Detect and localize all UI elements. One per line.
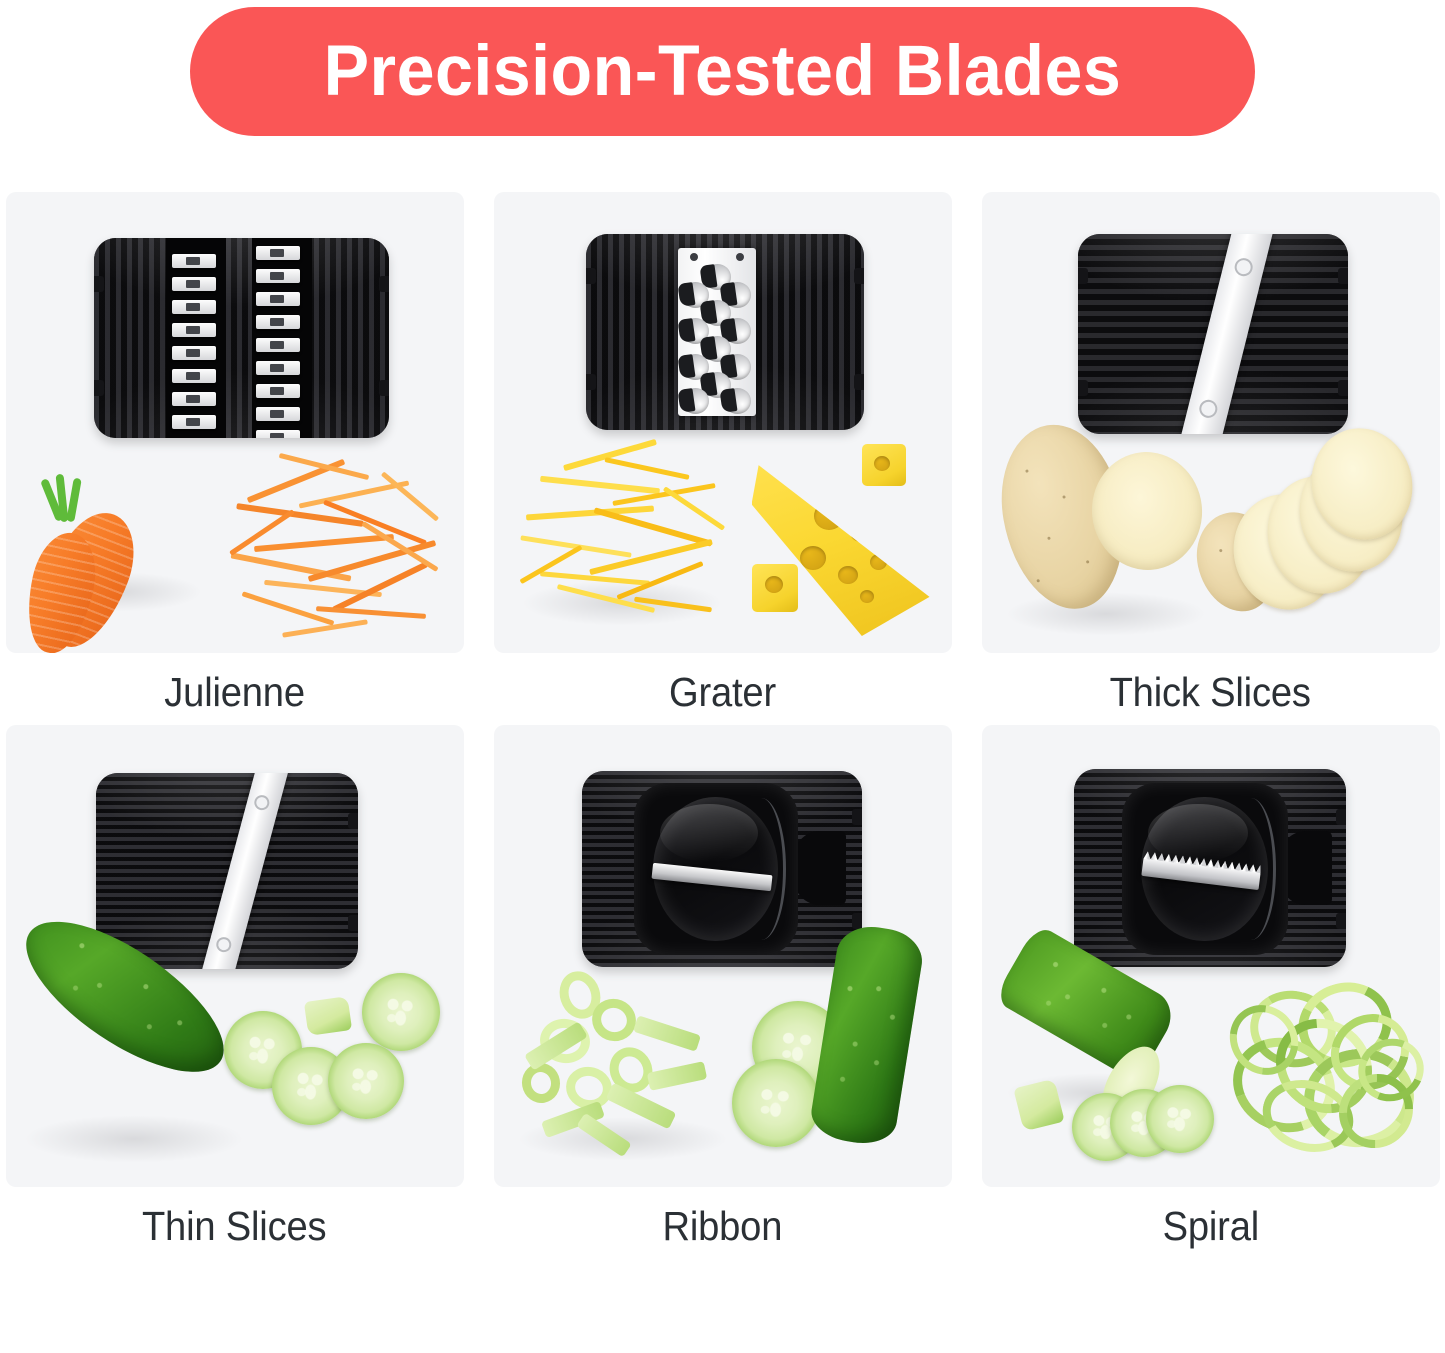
blade-card-ribbon[interactable]: Ribbon	[489, 725, 957, 1250]
julienne-tooth	[172, 277, 216, 291]
plate-rivet	[690, 253, 698, 261]
card-label-thin-slices: Thin Slices	[142, 1203, 326, 1250]
cheese-hole	[860, 590, 874, 603]
cheese-hole	[874, 456, 890, 471]
potato-spot	[1025, 469, 1028, 472]
blade-card-grid: Julienne	[0, 192, 1445, 1250]
cheese-shred	[604, 457, 689, 480]
blade-screw	[1197, 398, 1219, 420]
potato-spot	[1062, 495, 1065, 498]
thin-slice-blade-insert	[96, 773, 358, 969]
potato-spot	[1085, 560, 1088, 563]
blade-clip	[586, 374, 596, 390]
blade-ribbing	[94, 238, 389, 438]
julienne-tooth	[172, 346, 216, 360]
julienne-tooth	[256, 269, 300, 283]
ribbon-strip	[646, 1061, 706, 1091]
julienne-tooth	[256, 384, 300, 398]
zucchini-spiral-nest	[1226, 977, 1426, 1167]
cheese-cube-bottom	[752, 564, 798, 612]
spiral-card-image	[982, 725, 1440, 1187]
ribbon-card-image	[494, 725, 952, 1187]
julienne-tooth-column-left	[172, 254, 216, 429]
blade-clip	[586, 268, 596, 284]
cheese-hole	[800, 546, 826, 570]
spiral-blade-insert	[1074, 769, 1346, 967]
blade-screw	[214, 935, 232, 953]
blade-clip	[854, 268, 864, 284]
cheese-hole	[765, 576, 783, 593]
blade-screw	[252, 793, 270, 811]
cucumber-slice	[732, 1059, 820, 1147]
zucchini-slice	[1146, 1085, 1214, 1153]
blade-card-julienne[interactable]: Julienne	[1, 192, 469, 717]
card-label-spiral: Spiral	[1162, 1203, 1258, 1250]
header-title: Precision-Tested Blades	[324, 36, 1122, 107]
cheese-shred	[589, 539, 713, 575]
card-label-julienne: Julienne	[164, 669, 305, 716]
grater-hole	[682, 388, 709, 414]
cucumber-slice	[362, 973, 440, 1051]
cucumber-ribbon-pile	[514, 971, 724, 1151]
cucumber-seeds	[754, 1082, 796, 1124]
grater-card-image	[494, 192, 952, 653]
blade-card-grater[interactable]: Grater	[489, 192, 957, 717]
ribbon-strip	[576, 1113, 631, 1158]
blade-clip	[1338, 380, 1348, 396]
potato-spot	[1036, 579, 1039, 582]
blade-clip	[1078, 268, 1088, 284]
potato-shadow	[1006, 592, 1206, 636]
cucumber-seeds	[244, 1031, 281, 1068]
blade-card-spiral[interactable]: Spiral	[977, 725, 1445, 1250]
cheese-hole	[838, 566, 858, 584]
cheese-shred	[540, 476, 660, 495]
blade-card-thick-slices[interactable]: Thick Slices	[977, 192, 1445, 717]
spiral-rotary-hub	[1122, 783, 1288, 955]
card-label-thick-slices: Thick Slices	[1110, 669, 1311, 716]
carrot-shred-pile	[224, 454, 454, 644]
blade-clip	[1336, 809, 1346, 825]
cheese-hole	[814, 502, 844, 530]
julienne-tooth	[256, 338, 300, 352]
julienne-tooth	[256, 361, 300, 375]
cucumber-chunk	[303, 996, 351, 1036]
julienne-tooth	[172, 300, 216, 314]
cheese-hole	[850, 522, 872, 542]
ribbon-blade-insert	[582, 771, 862, 967]
blade-screw	[1232, 256, 1254, 278]
thick-slices-card-image	[982, 192, 1440, 653]
blade-clip	[348, 813, 358, 829]
julienne-tooth	[256, 315, 300, 329]
carrot-shred	[307, 540, 436, 582]
hub-side-notch	[794, 831, 846, 905]
blade-clip	[379, 380, 389, 396]
header-banner: Precision-Tested Blades	[190, 7, 1255, 136]
blade-clip	[348, 915, 358, 931]
grater-hole	[724, 388, 751, 414]
ribbon-curl	[518, 1060, 562, 1106]
blade-card-thin-slices[interactable]: Thin Slices	[1, 725, 469, 1250]
grater-steel-plate	[678, 248, 756, 416]
cheese-shred	[662, 486, 724, 530]
potato-spot	[1219, 549, 1223, 553]
ribbon-strip	[632, 1015, 700, 1052]
zucchini-seeds	[1163, 1103, 1196, 1136]
cheese-cube-top	[862, 444, 906, 486]
blade-clip	[854, 374, 864, 390]
blade-clip	[1336, 913, 1346, 929]
grater-blade-insert	[586, 234, 864, 430]
blade-clip	[852, 913, 862, 929]
infographic-page: Precision-Tested Blades	[0, 0, 1445, 1353]
julienne-tooth-column-right	[256, 246, 300, 438]
card-label-ribbon: Ribbon	[663, 1203, 783, 1250]
carrot-shred	[230, 552, 351, 581]
blade-clip	[1078, 380, 1088, 396]
carrot-shred	[278, 453, 368, 480]
ribbon-rotary-hub	[634, 783, 798, 955]
cheese-hole	[870, 554, 887, 570]
julienne-tooth	[256, 292, 300, 306]
julienne-tooth	[172, 254, 216, 268]
blade-clip	[94, 380, 104, 396]
julienne-tooth	[256, 407, 300, 421]
cucumber-seeds	[382, 993, 419, 1030]
julienne-tooth	[172, 392, 216, 406]
thick-slice-blade-insert	[1078, 234, 1348, 434]
carrot-green-top	[66, 478, 82, 523]
julienne-tooth	[256, 246, 300, 260]
julienne-blade-insert	[94, 238, 389, 438]
thin-slices-card-image	[6, 725, 464, 1187]
header-banner-wrap: Precision-Tested Blades	[0, 7, 1445, 136]
cucumber-slice	[328, 1043, 404, 1119]
card-label-grater: Grater	[669, 669, 776, 716]
cucumber-seeds	[292, 1067, 329, 1104]
carrot-shred	[254, 534, 394, 552]
blade-clip	[852, 809, 862, 825]
julienne-tooth	[256, 430, 300, 438]
cucumber-shadow	[24, 1115, 244, 1163]
carrot-shred	[380, 471, 438, 521]
julienne-tooth	[172, 323, 216, 337]
blade-clip	[379, 276, 389, 292]
cheddar-shred-pile	[516, 444, 730, 624]
julienne-card-image	[6, 192, 464, 653]
julienne-tooth	[172, 369, 216, 383]
julienne-tooth	[172, 415, 216, 429]
cheese-shred	[593, 507, 712, 546]
potato-spot	[1047, 537, 1050, 540]
carrot-shred	[315, 606, 425, 619]
plate-rivet	[736, 253, 744, 261]
blade-clip	[94, 276, 104, 292]
hub-inner-arc	[737, 798, 786, 939]
blade-clip	[1338, 268, 1348, 284]
cucumber-seeds	[347, 1063, 383, 1099]
